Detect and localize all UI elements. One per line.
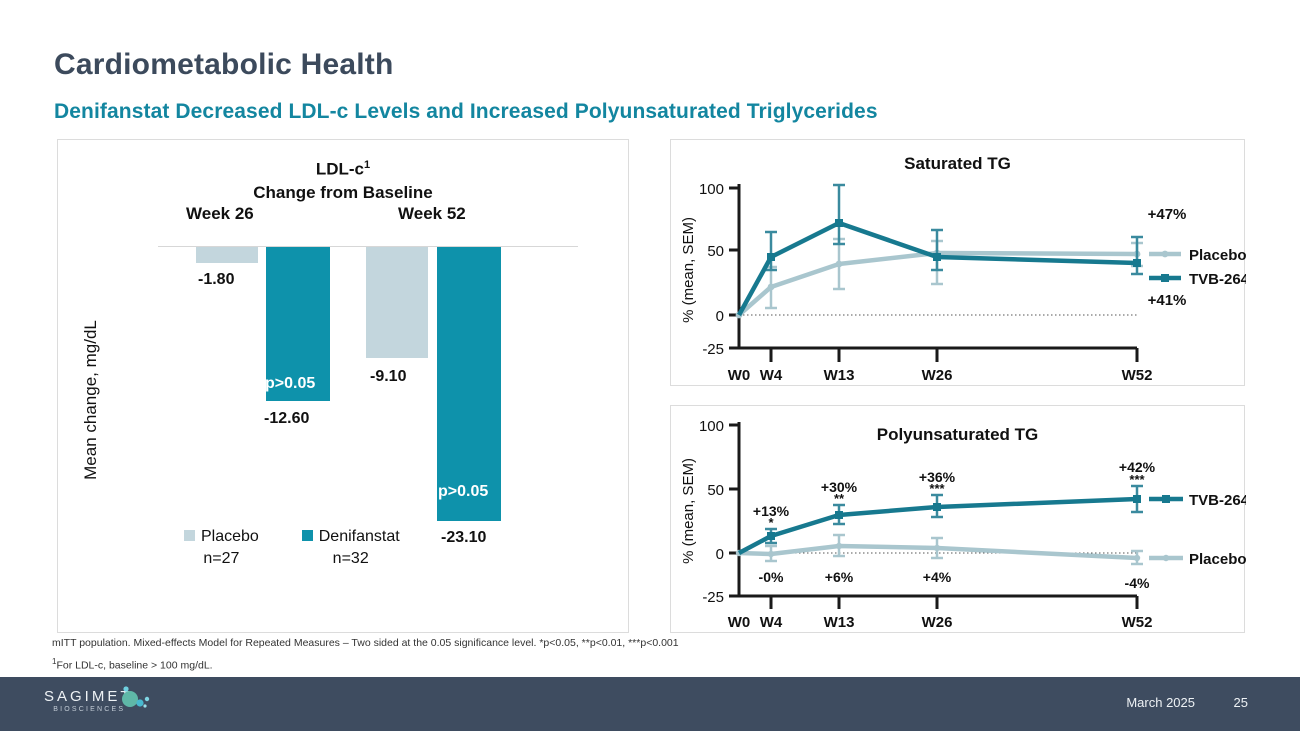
svg-text:W26: W26 [922, 614, 953, 631]
ldl-pvalue-week52-denifanstat: p>0.05 [438, 483, 488, 501]
svg-text:50: 50 [707, 243, 724, 260]
saturated-tg-plot: 100 50 0 -25 % (mean, SEM) W0 W4 W13 W26… [671, 140, 1246, 387]
svg-text:+41%: +41% [1148, 292, 1187, 309]
svg-text:***: *** [929, 481, 945, 496]
ldl-bar-week52-denifanstat [437, 247, 501, 521]
svg-text:W4: W4 [760, 614, 783, 631]
ldl-chart-title: LDL-c1 Change from Baseline [58, 154, 628, 204]
ldl-legend-item-placebo: Placebo n=27 [184, 528, 259, 568]
svg-text:TVB-2640: TVB-2640 [1189, 492, 1246, 509]
ldl-value-label-week26-placebo: -1.80 [198, 271, 234, 289]
ldl-value-label-week52-denifanstat: -23.10 [441, 529, 486, 547]
denifanstat-swatch-icon [302, 530, 313, 541]
ldl-value-label-week52-placebo: -9.10 [370, 368, 406, 386]
ldl-legend-n-placebo: n=27 [184, 550, 259, 568]
svg-text:100: 100 [699, 181, 724, 198]
svg-text:50: 50 [707, 482, 724, 499]
svg-text:W52: W52 [1122, 614, 1153, 631]
svg-text:W13: W13 [824, 367, 855, 384]
svg-text:-25: -25 [702, 341, 724, 358]
svg-text:-4%: -4% [1125, 575, 1150, 591]
ldl-bar-week52-placebo [366, 247, 428, 358]
svg-text:-25: -25 [702, 589, 724, 606]
svg-text:Placebo: Placebo [1189, 551, 1246, 568]
svg-text:**: ** [834, 491, 845, 506]
chart-panel-polyunsaturated-tg: Polyunsaturated TG 100 50 0 -25 % (mean,… [670, 405, 1245, 633]
svg-text:+47%: +47% [1148, 206, 1187, 223]
svg-text:W0: W0 [728, 614, 751, 631]
ldl-bar-week26-placebo [196, 247, 258, 263]
page-subtitle: Denifanstat Decreased LDL-c Levels and I… [54, 100, 878, 124]
chart-panel-ldl: LDL-c1 Change from Baseline Week 26 Week… [57, 139, 629, 633]
ldl-legend: Placebo n=27 Denifanstat n=32 [184, 528, 400, 568]
svg-text:+4%: +4% [923, 569, 952, 585]
svg-text:-0%: -0% [759, 569, 784, 585]
footnote-ldl-baseline-text: For LDL-c, baseline > 100 mg/dL. [56, 660, 212, 672]
ldl-legend-label-placebo: Placebo [201, 528, 259, 545]
svg-text:0: 0 [716, 308, 724, 325]
ldl-legend-label-denifanstat: Denifanstat [319, 528, 400, 545]
ldl-group-label-week26: Week 26 [186, 204, 254, 224]
svg-text:+6%: +6% [825, 569, 854, 585]
svg-text:TVB-2640: TVB-2640 [1189, 271, 1246, 288]
ldl-title-superscript: 1 [364, 159, 370, 171]
svg-text:W13: W13 [824, 614, 855, 631]
ldl-title-text: LDL-c [316, 160, 364, 179]
polyunsaturated-tg-title: Polyunsaturated TG [671, 425, 1244, 445]
slide-canvas: Cardiometabolic Health Denifanstat Decre… [0, 0, 1300, 731]
logo-dots-icon [44, 686, 154, 720]
svg-text:W0: W0 [728, 367, 751, 384]
ldl-pvalue-week26-denifanstat: p>0.05 [265, 375, 315, 393]
ldl-value-label-week26-denifanstat: -12.60 [264, 410, 309, 428]
svg-text:0: 0 [716, 546, 724, 563]
company-logo: SAGIMET BIOSCIENCES [44, 688, 133, 713]
chart-panel-saturated-tg: Saturated TG 100 50 0 -25 % (mean, SEM) [670, 139, 1245, 386]
ldl-group-label-week52: Week 52 [398, 204, 466, 224]
svg-text:W26: W26 [922, 367, 953, 384]
footer-date: March 2025 [1126, 695, 1195, 710]
ldl-legend-n-denifanstat: n=32 [302, 550, 400, 568]
placebo-swatch-icon [184, 530, 195, 541]
svg-text:***: *** [1129, 472, 1145, 487]
footnote-statistics: mITT population. Mixed-effects Model for… [52, 637, 679, 649]
footer-page-number: 25 [1234, 695, 1248, 710]
svg-text:% (mean, SEM): % (mean, SEM) [680, 217, 697, 323]
ldl-y-axis-label: Mean change, mg/dL [81, 275, 101, 525]
footnote-ldl-baseline: 1For LDL-c, baseline > 100 mg/dL. [52, 657, 213, 672]
svg-text:W52: W52 [1122, 367, 1153, 384]
svg-text:% (mean, SEM): % (mean, SEM) [680, 458, 697, 564]
svg-text:W4: W4 [760, 367, 783, 384]
page-title: Cardiometabolic Health [54, 48, 393, 82]
saturated-tg-title: Saturated TG [671, 154, 1244, 174]
ldl-legend-item-denifanstat: Denifanstat n=32 [302, 528, 400, 568]
ldl-chart-subtitle: Change from Baseline [253, 183, 433, 202]
svg-text:Placebo: Placebo [1189, 247, 1246, 264]
slide-footer: SAGIMET BIOSCIENCES March 2025 25 [0, 677, 1300, 731]
